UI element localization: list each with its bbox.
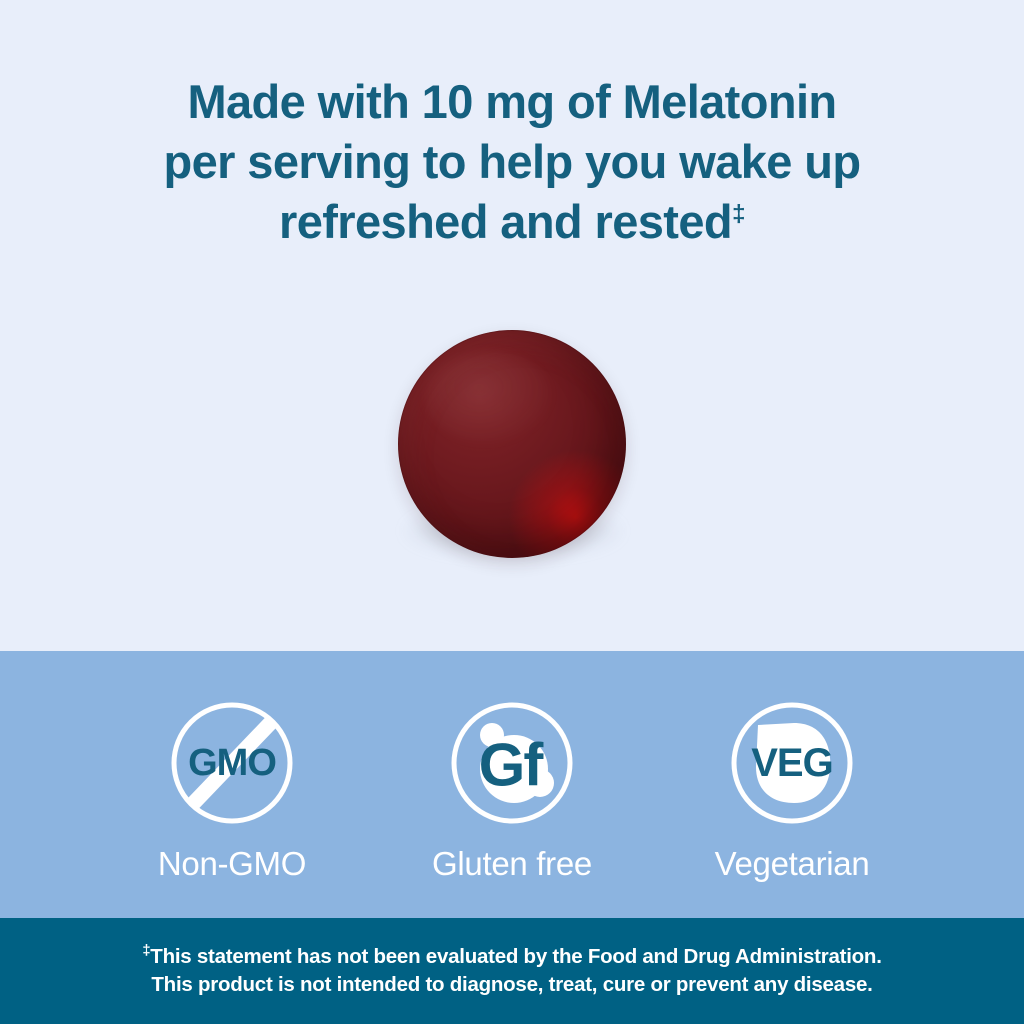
badge-label-non-gmo: Non-GMO bbox=[158, 847, 306, 880]
headline-line-3: refreshed and rested bbox=[279, 195, 732, 248]
page-title: Made with 10 mg of Melatoninper serving … bbox=[97, 0, 927, 252]
gummy-edge bbox=[398, 330, 626, 558]
gluten-free-icon: Gf bbox=[442, 693, 582, 833]
product-marketing-image: Made with 10 mg of Melatoninper serving … bbox=[0, 0, 1024, 1024]
badge-label-gluten-free: Gluten free bbox=[432, 847, 592, 880]
badge-gluten-free: Gf Gluten free bbox=[372, 651, 652, 880]
headline-footnote-marker: ‡ bbox=[732, 200, 745, 227]
headline-line-1: Made with 10 mg of Melatonin bbox=[187, 75, 836, 128]
disclaimer-footer: ‡This statement has not been evaluated b… bbox=[0, 918, 1024, 1024]
svg-text:Gf: Gf bbox=[479, 732, 545, 799]
certification-badge-band: GMO Non-GMO Gf Gluten free VEG Vegetaria… bbox=[0, 651, 1024, 918]
non-gmo-icon: GMO bbox=[162, 693, 302, 833]
product-image bbox=[382, 326, 642, 576]
badge-vegetarian: VEG Vegetarian bbox=[652, 651, 932, 880]
vegetarian-leaf-icon: VEG bbox=[722, 693, 862, 833]
disclaimer-text-1: This statement has not been evaluated by… bbox=[150, 945, 881, 968]
hero-section: Made with 10 mg of Melatoninper serving … bbox=[0, 0, 1024, 651]
headline-line-2: per serving to help you wake up bbox=[163, 135, 860, 188]
svg-text:VEG: VEG bbox=[751, 741, 832, 785]
disclaimer-line-1: ‡This statement has not been evaluated b… bbox=[142, 943, 881, 971]
badge-non-gmo: GMO Non-GMO bbox=[92, 651, 372, 880]
badge-label-vegetarian: Vegetarian bbox=[715, 847, 870, 880]
disclaimer-line-2: This product is not intended to diagnose… bbox=[151, 971, 872, 999]
svg-text:GMO: GMO bbox=[188, 742, 276, 784]
